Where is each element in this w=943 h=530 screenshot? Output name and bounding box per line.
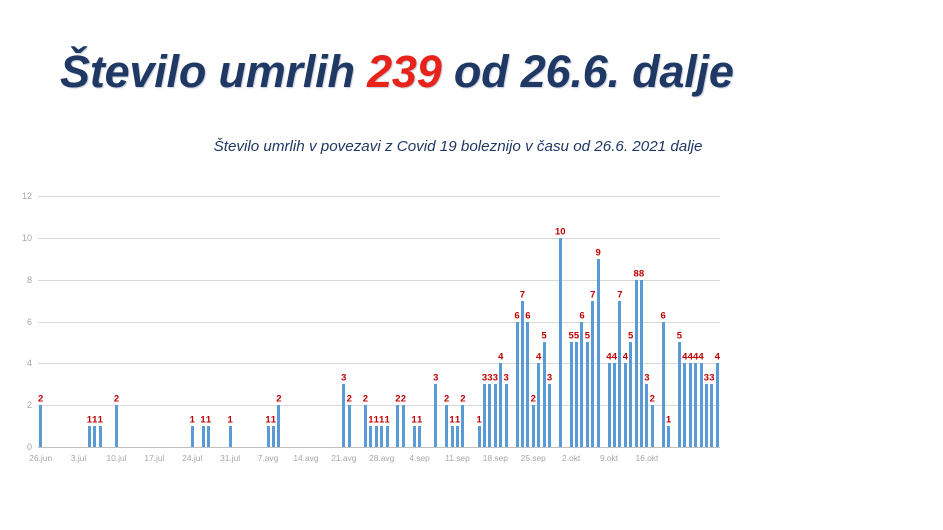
chart-bar[interactable] [451, 426, 454, 447]
bar-value-label: 1 [384, 416, 389, 426]
x-axis-tick-label: 25.sep [521, 453, 546, 463]
bar-value-label: 4 [536, 353, 541, 363]
chart-bar[interactable] [570, 342, 573, 447]
chart-bar[interactable] [478, 426, 481, 447]
chart-bar[interactable] [191, 426, 194, 447]
chart-bar[interactable] [694, 363, 697, 447]
chart-bar[interactable] [678, 342, 681, 447]
chart-container: Število umrlih v povezavi z Covid 19 bol… [0, 128, 943, 478]
bar-value-label: 2 [363, 395, 368, 405]
x-axis-tick-label: 17.jul [144, 453, 164, 463]
chart-bar[interactable] [710, 384, 713, 447]
chart-bar[interactable] [434, 384, 437, 447]
chart-bar[interactable] [580, 322, 583, 448]
chart-bar[interactable] [640, 280, 643, 447]
x-axis-tick-label: 9.okt [600, 453, 618, 463]
chart-bar[interactable] [99, 426, 102, 447]
bar-value-label: 3 [504, 374, 509, 384]
page-title: Število umrlih 239 od 26.6. dalje [60, 46, 880, 108]
bar-value-label: 4 [623, 353, 628, 363]
chart-bar[interactable] [505, 384, 508, 447]
bar-value-label: 2 [347, 395, 352, 405]
gridline-y-8 [38, 280, 720, 281]
y-axis-tick-label: 12 [22, 191, 32, 201]
chart-bar[interactable] [364, 405, 367, 447]
chart-bar[interactable] [651, 405, 654, 447]
chart-bar[interactable] [494, 384, 497, 447]
bar-value-label: 2 [276, 395, 281, 405]
x-axis-tick-label: 21.avg [331, 453, 356, 463]
bar-value-label: 9 [596, 248, 601, 258]
y-axis-tick-label: 10 [22, 233, 32, 243]
bar-value-label: 1 [206, 416, 211, 426]
chart-bar[interactable] [700, 363, 703, 447]
chart-bar[interactable] [543, 342, 546, 447]
chart-bar[interactable] [645, 384, 648, 447]
bar-value-label: 6 [525, 311, 530, 321]
chart-bar[interactable] [635, 280, 638, 447]
bar-value-label: 3 [644, 374, 649, 384]
chart-bar[interactable] [375, 426, 378, 447]
chart-bar[interactable] [716, 363, 719, 447]
chart-bar[interactable] [575, 342, 578, 447]
bar-value-label: 4 [612, 353, 617, 363]
bar-value-label: 3 [709, 374, 714, 384]
x-axis-tick-label: 4.sep [409, 453, 430, 463]
chart-bar[interactable] [88, 426, 91, 447]
bar-value-label: 1 [227, 416, 232, 426]
chart-bar[interactable] [93, 426, 96, 447]
chart-bar[interactable] [618, 301, 621, 447]
chart-bar[interactable] [662, 322, 665, 448]
y-axis-tick-label: 4 [27, 358, 32, 368]
x-axis-tick-label: 10.jul [106, 453, 126, 463]
chart-bar[interactable] [548, 384, 551, 447]
bar-value-label: 2 [650, 395, 655, 405]
chart-bar[interactable] [521, 301, 524, 447]
x-axis-tick-label: 28.avg [369, 453, 394, 463]
chart-plot-area: 02468101226.jun3.jul10.jul17.jul24.jul31… [38, 196, 720, 447]
bar-value-label: 1 [271, 416, 276, 426]
chart-bar[interactable] [624, 363, 627, 447]
bar-value-label: 4 [698, 353, 703, 363]
chart-bar[interactable] [559, 238, 562, 447]
chart-bar[interactable] [272, 426, 275, 447]
bar-value-label: 3 [433, 374, 438, 384]
x-axis-tick-label: 14.avg [293, 453, 318, 463]
chart-bar[interactable] [342, 384, 345, 447]
bar-value-label: 1 [455, 416, 460, 426]
bar-value-label: 5 [628, 332, 633, 342]
x-axis-tick-label: 16.okt [636, 453, 659, 463]
bar-value-label: 6 [661, 311, 666, 321]
x-axis-tick-label: 7.avg [258, 453, 279, 463]
chart-bar[interactable] [488, 384, 491, 447]
bar-value-label: 1 [417, 416, 422, 426]
chart-bar[interactable] [629, 342, 632, 447]
chart-bar[interactable] [277, 405, 280, 447]
bar-value-label: 8 [639, 269, 644, 279]
bar-value-label: 10 [555, 227, 566, 237]
y-axis-tick-label: 2 [27, 400, 32, 410]
x-axis-tick-label: 26.jun [29, 453, 52, 463]
chart-bar[interactable] [456, 426, 459, 447]
bar-value-label: 7 [590, 290, 595, 300]
page-title-highlight: 239 [367, 46, 441, 97]
bar-value-label: 3 [493, 374, 498, 384]
x-axis-tick-label: 3.jul [71, 453, 86, 463]
bar-value-label: 1 [98, 416, 103, 426]
bar-value-label: 5 [541, 332, 546, 342]
bar-value-label: 5 [585, 332, 590, 342]
chart-bar[interactable] [683, 363, 686, 447]
gridline-y-12 [38, 196, 720, 197]
y-axis-tick-label: 8 [27, 275, 32, 285]
chart-bar[interactable] [537, 363, 540, 447]
chart-bar[interactable] [348, 405, 351, 447]
bar-value-label: 4 [715, 353, 720, 363]
x-axis-tick-label: 2.okt [562, 453, 580, 463]
page-title-suffix: od 26.6. dalje [442, 46, 734, 97]
chart-bar[interactable] [483, 384, 486, 447]
bar-value-label: 2 [38, 395, 43, 405]
chart-bar[interactable] [613, 363, 616, 447]
chart-bar[interactable] [526, 322, 529, 448]
bar-value-label: 2 [531, 395, 536, 405]
bar-value-label: 2 [401, 395, 406, 405]
chart-bar[interactable] [608, 363, 611, 447]
chart-bar[interactable] [380, 426, 383, 447]
chart-bar[interactable] [39, 405, 42, 447]
bar-value-label: 3 [547, 374, 552, 384]
chart-bar[interactable] [586, 342, 589, 447]
chart-bar[interactable] [445, 405, 448, 447]
chart-bar[interactable] [396, 405, 399, 447]
chart-bar[interactable] [667, 426, 670, 447]
gridline-y-10 [38, 238, 720, 239]
y-axis-tick-label: 6 [27, 317, 32, 327]
chart-bar[interactable] [461, 405, 464, 447]
gridline-y-0 [38, 447, 720, 448]
bar-value-label: 2 [114, 395, 119, 405]
page-title-prefix: Število umrlih [60, 46, 367, 97]
chart-bar[interactable] [413, 426, 416, 447]
chart-bar[interactable] [418, 426, 421, 447]
chart-bar[interactable] [532, 405, 535, 447]
chart-bar[interactable] [202, 426, 205, 447]
bar-value-label: 5 [574, 332, 579, 342]
bar-value-label: 6 [514, 311, 519, 321]
chart-bar[interactable] [229, 426, 232, 447]
bar-value-label: 7 [617, 290, 622, 300]
chart-bar[interactable] [516, 322, 519, 448]
bar-value-label: 2 [460, 395, 465, 405]
chart-title: Število umrlih v povezavi z Covid 19 bol… [128, 137, 788, 157]
bar-value-label: 7 [520, 290, 525, 300]
bar-value-label: 1 [190, 416, 195, 426]
chart-bar[interactable] [207, 426, 210, 447]
chart-bar[interactable] [591, 301, 594, 447]
chart-bar[interactable] [115, 405, 118, 447]
bar-value-label: 5 [677, 332, 682, 342]
bar-value-label: 2 [444, 395, 449, 405]
chart-bar[interactable] [597, 259, 600, 447]
x-axis-tick-label: 11.sep [445, 453, 470, 463]
chart-bar[interactable] [689, 363, 692, 447]
bar-value-label: 4 [498, 353, 503, 363]
chart-bar[interactable] [705, 384, 708, 447]
y-axis-tick-label: 0 [27, 442, 32, 452]
x-axis-tick-label: 31.jul [220, 453, 240, 463]
bar-value-label: 3 [341, 374, 346, 384]
bar-value-label: 1 [666, 416, 671, 426]
chart-bar[interactable] [386, 426, 389, 447]
slide-canvas: Število umrlih 239 od 26.6. dalje Števil… [0, 0, 943, 530]
chart-bar[interactable] [267, 426, 270, 447]
bar-value-label: 6 [579, 311, 584, 321]
chart-bar[interactable] [402, 405, 405, 447]
chart-bar[interactable] [369, 426, 372, 447]
x-axis-tick-label: 18.sep [483, 453, 508, 463]
bar-value-label: 1 [476, 416, 481, 426]
chart-bar[interactable] [499, 363, 502, 447]
x-axis-tick-label: 24.jul [182, 453, 202, 463]
